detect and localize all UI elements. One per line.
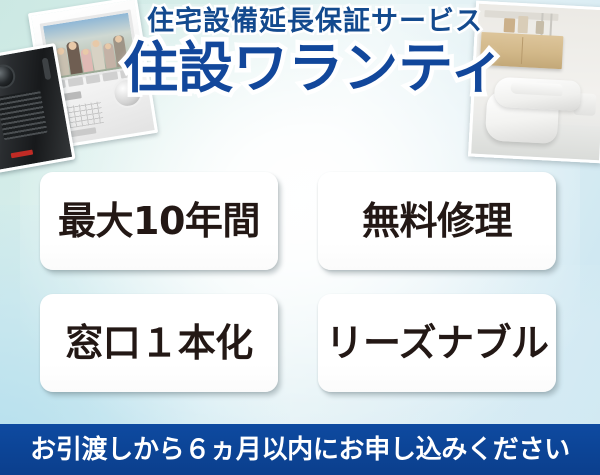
feature-box-reasonable[interactable]: リーズナブル xyxy=(318,294,556,392)
feature-label: リーズナブル xyxy=(325,324,548,362)
toilet-decor-jar-1 xyxy=(504,18,516,33)
feature-label: 窓口１本化 xyxy=(65,324,253,362)
intercom-photo xyxy=(0,2,172,150)
feature-box-grid: 最大10年間 無料修理 窓口１本化 リーズナブル xyxy=(40,172,560,392)
intercom-speaker-grille xyxy=(0,89,48,140)
application-deadline-banner: お引渡しから６ヵ月以内にお申し込みください xyxy=(0,424,600,475)
feature-box-single-contact[interactable]: 窓口１本化 xyxy=(40,294,278,392)
promo-banner: 住宅設備延長保証サービス 住設ワランティ 最大10年間 無料修理 窓口１本化 リ… xyxy=(0,0,600,475)
application-deadline-text: お引渡しから６ヵ月以内にお申し込みください xyxy=(30,437,570,463)
intercom-dial xyxy=(110,76,144,110)
toilet-decor-jar-2 xyxy=(518,16,529,34)
intercom-call-button xyxy=(11,150,34,159)
toilet-photo xyxy=(468,1,600,164)
feature-label: 無料修理 xyxy=(362,202,512,240)
feature-box-max-years[interactable]: 最大10年間 xyxy=(40,172,278,270)
feature-box-free-repair[interactable]: 無料修理 xyxy=(318,172,556,270)
feature-label: 最大10年間 xyxy=(58,202,260,240)
toilet-wood-cabinet xyxy=(480,32,564,69)
intercom-led-slot xyxy=(42,57,52,80)
camera-lens-icon xyxy=(0,63,17,91)
toilet-decor-jar-3 xyxy=(536,21,545,34)
